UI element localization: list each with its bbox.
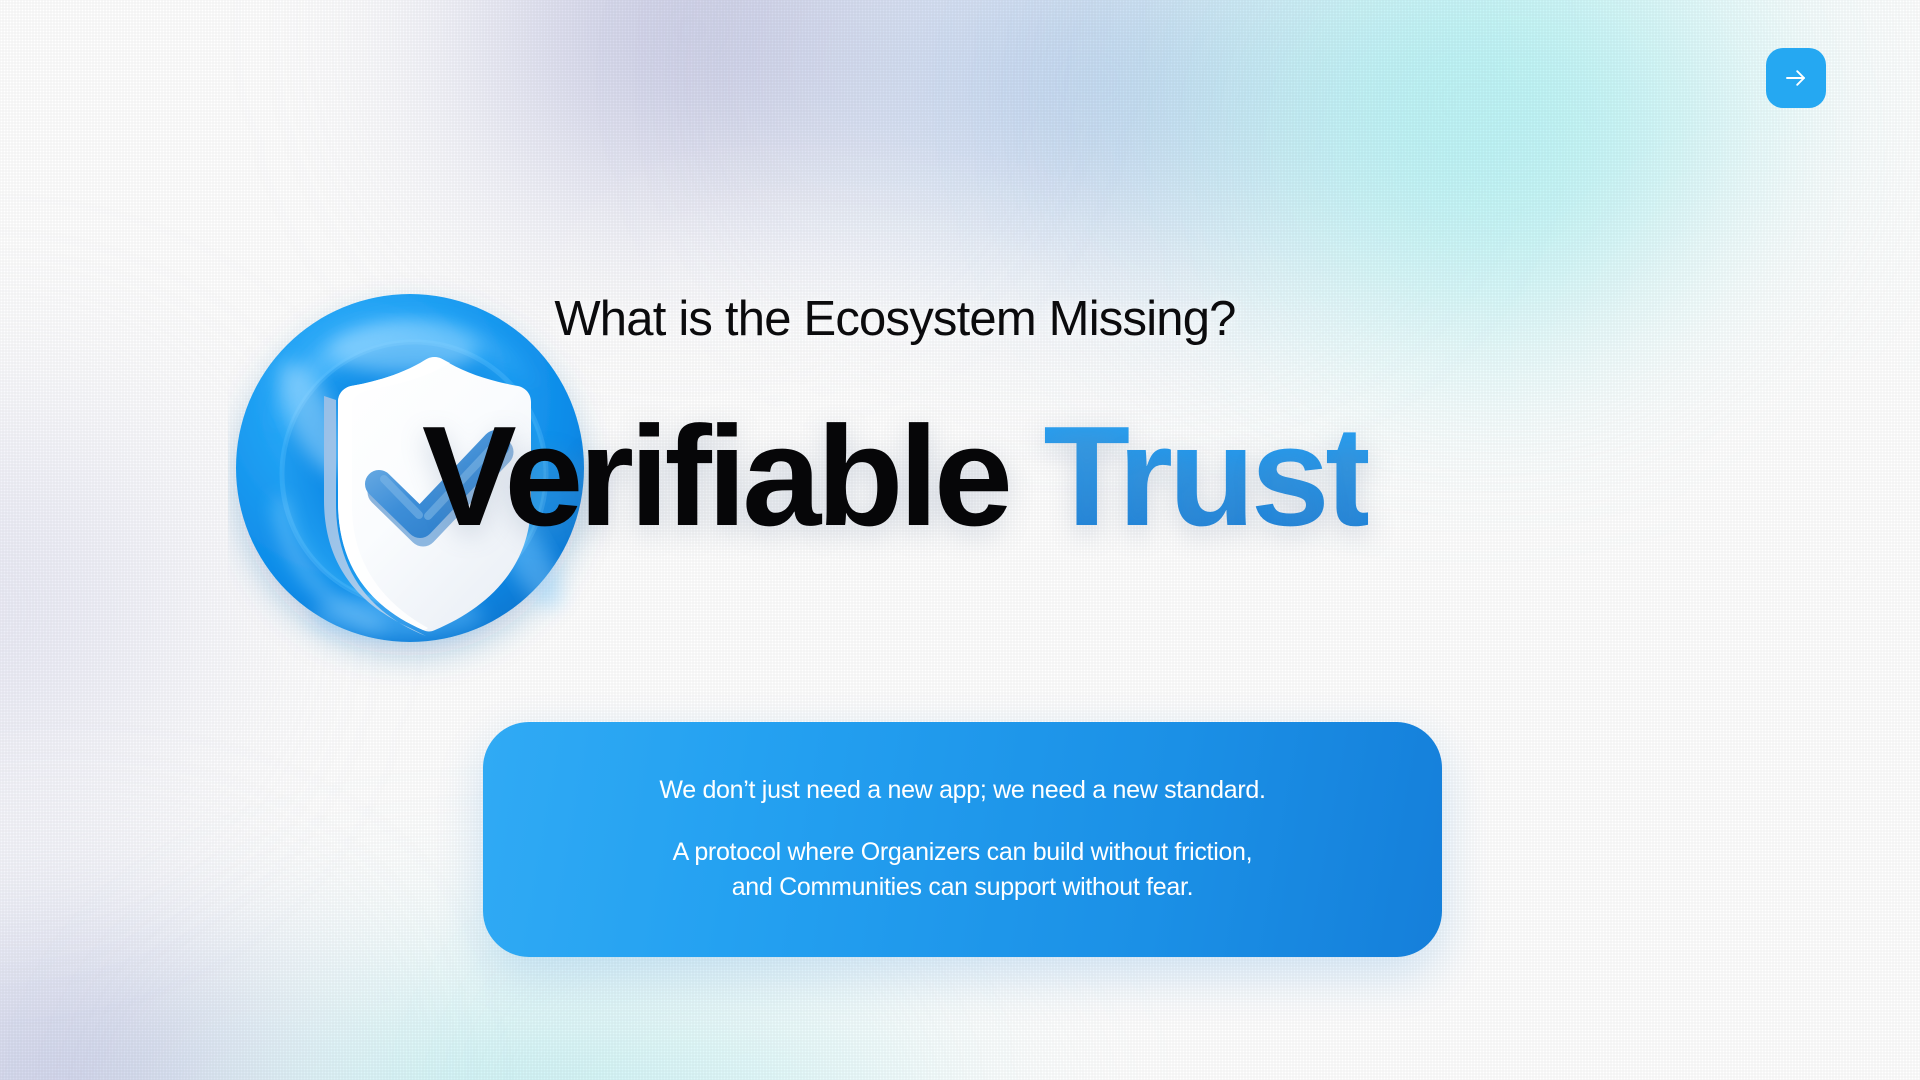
background-blob-lavender-bottom [0, 880, 370, 1080]
statement-line-2: A protocol where Organizers can build wi… [673, 835, 1253, 906]
background-blob-cyan-bottom-2 [520, 980, 1040, 1080]
background-blob-lavender-top [380, 0, 1000, 290]
arrow-right-icon [1781, 63, 1811, 93]
background-blob-periwinkle-top [740, 0, 1440, 340]
next-slide-button[interactable] [1766, 48, 1826, 108]
statement-card: We don’t just need a new app; we need a … [483, 722, 1442, 957]
page-title: Verifiable Trust [0, 406, 1790, 548]
statement-line-1: We don’t just need a new app; we need a … [659, 773, 1265, 809]
slide-root: What is the Ecosystem Missing? Verifiabl… [0, 0, 1920, 1080]
headline-word-trust: Trust [1043, 397, 1368, 556]
background-blob-cyan-top [1080, 0, 1860, 410]
headline-word-verifiable: Verifiable [422, 397, 1008, 556]
eyebrow-question: What is the Ecosystem Missing? [0, 294, 1790, 345]
statement-line-2b: and Communities can support without fear… [732, 873, 1194, 901]
statement-line-2a: A protocol where Organizers can build wi… [673, 838, 1253, 866]
background-blob-white-right [1480, 120, 1920, 1020]
